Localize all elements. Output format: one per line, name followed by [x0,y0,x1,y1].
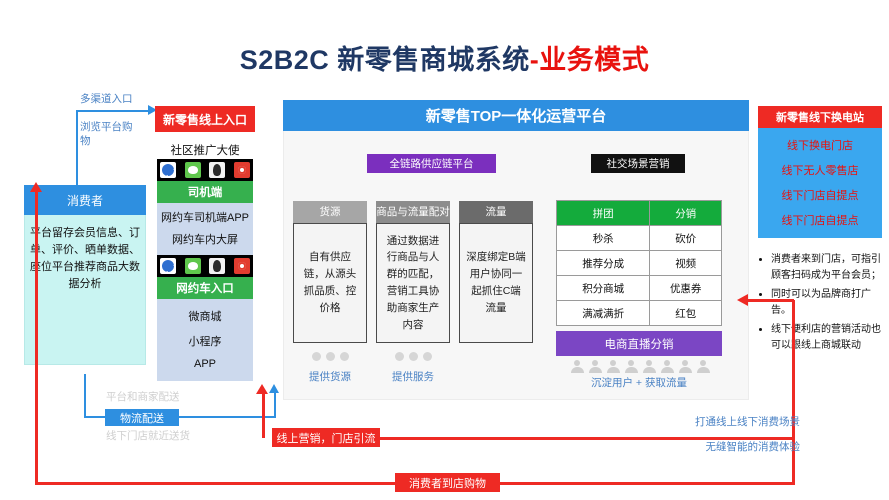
wechat-icon [185,162,201,178]
baidu-icon [160,162,176,178]
table-row: 推荐分成 视频 [557,251,722,276]
online-entry-badge[interactable]: 新零售线上入口 [155,106,255,132]
social-icon-strip-driver [157,159,253,181]
ambassador-label: 社区推广大使 [150,142,260,158]
consumer-arrow-horizontal [76,110,150,112]
title-suffix: -业务模式 [530,45,650,75]
label-nearby-delivery: 线下门店就近送货 [106,429,236,443]
offline-note-item: 消费者来到门店，可指引顾客扫码成为平台会员； [771,252,886,284]
red-flow2-arrow-head-icon [30,182,42,192]
table-row: 积分商城 优惠券 [557,276,722,301]
label-platform-delivery: 平台和商家配送 [106,390,226,404]
table-header-row: 拼团 分销 [557,201,722,226]
table-row: 秒杀 砍价 [557,226,722,251]
offline-item: 线下换电门店 [758,137,882,153]
marketing-tools-table: 拼团 分销 秒杀 砍价 推荐分成 视频 积分商城 优惠券 满减满折 红包 [556,200,722,326]
supply-chain-chip: 全链路供应链平台 [367,154,496,173]
driver-panel: 网约车司机端APP 网约车内大屏 [157,203,253,255]
red-chip-instore-shopping: 消费者到店购物 [395,473,500,492]
table-cell: 积分商城 [557,276,650,301]
ride-entry-bar[interactable]: 网约车入口 [157,277,253,299]
column-body-matching: 通过数据进行商品与人群的匹配，营销工具协助商家生产内容 [376,223,450,343]
consumer-arrow-vertical [76,110,78,187]
offline-item: 线下门店自提点 [758,212,882,228]
platform-header: 新零售TOP一体化运营平台 [283,100,749,131]
driver-bar[interactable]: 司机端 [157,181,253,203]
table-header-cell: 分销 [650,201,722,226]
red-flow1-up-line [262,392,265,438]
red-flow1-arrow-head-icon [737,294,748,306]
logistics-arrow-head-icon [269,384,279,393]
page-title: S2B2C 新零售商城系统-业务模式 [0,38,889,77]
label-multi-channel: 多渠道入口 [80,92,180,106]
live-commerce-caption: 沉淀用户 + 获取流量 [556,376,722,390]
caption-online-offline: 打通线上线下消费场景 [630,415,800,429]
column-header-matching: 商品与流量配对 [376,201,450,223]
offline-station-panel: 线下换电门店 线下无人零售店 线下门店自提点 线下门店自提点 [758,128,882,238]
column-header-traffic: 流量 [459,201,533,223]
column-header-goods: 货源 [293,201,367,223]
diagram-canvas: S2B2C 新零售商城系统-业务模式 多渠道入口 浏览平台购物 消费者 平台留存… [0,0,889,500]
weibo-icon [234,162,250,178]
ride-entry-panel: 微商城 小程序 APP [157,299,253,381]
red-flow1-up-arrow-head-icon [256,384,268,394]
caption-provide-goods: 提供货源 [288,370,372,384]
caption-provide-service: 提供服务 [371,370,455,384]
ride-item: 小程序 [157,333,253,349]
table-cell: 红包 [650,301,722,326]
gear-dots-icon [312,352,349,361]
social-icon-strip-ride [157,255,253,277]
table-cell: 视频 [650,251,722,276]
column-body-traffic: 深度绑定B端用户协同一起抓住C端流量 [459,223,533,343]
table-row: 满减满折 红包 [557,301,722,326]
logistics-line-vertical [84,374,86,418]
offline-station-header[interactable]: 新零售线下换电站 [758,106,882,128]
live-commerce-chip: 电商直播分销 [556,331,722,356]
people-row-icon [560,360,720,373]
red-flow2-left-vertical [35,190,38,484]
caption-seamless: 无缝智能的消费体验 [630,440,800,454]
offline-item: 线下无人零售店 [758,162,882,178]
offline-note-item: 线下便利店的营销活动也可以跟线上商城联动 [771,322,886,354]
column-body-goods: 自有供应链，从源头抓品质、控价格 [293,223,367,343]
offline-note-item: 同时可以为品牌商打广告。 [771,287,886,319]
table-cell: 秒杀 [557,226,650,251]
weibo-icon [234,258,250,274]
ride-item: 微商城 [157,308,253,324]
table-cell: 砍价 [650,226,722,251]
label-browse-shopping: 浏览平台购物 [80,120,140,148]
title-main: S2B2C 新零售商城系统 [240,45,530,75]
red-flow1-branch [746,299,794,302]
red-chip-online-marketing: 线上营销，门店引流 [272,428,380,447]
ride-item: APP [157,358,253,370]
social-scenario-chip: 社交场景营销 [591,154,685,173]
offline-item: 线下门店自提点 [758,187,882,203]
driver-item: 网约车司机端APP [157,209,253,225]
consumer-card-body: 平台留存会员信息、订单、评价、晒单数据、座位平台推荐商品大数据分析 [28,225,142,293]
gear-dots-icon [395,352,432,361]
table-cell: 推荐分成 [557,251,650,276]
wechat-icon [185,258,201,274]
table-cell: 优惠券 [650,276,722,301]
qq-icon [209,258,225,274]
consumer-card-header: 消费者 [24,185,146,215]
table-cell: 满减满折 [557,301,650,326]
logistics-chip: 物流配送 [105,409,179,426]
table-header-cell: 拼团 [557,201,650,226]
logistics-line-up [274,392,276,418]
qq-icon [209,162,225,178]
driver-item: 网约车内大屏 [157,231,253,247]
offline-notes: 消费者来到门店，可指引顾客扫码成为平台会员； 同时可以为品牌商打广告。 线下便利… [758,252,886,357]
baidu-icon [160,258,176,274]
